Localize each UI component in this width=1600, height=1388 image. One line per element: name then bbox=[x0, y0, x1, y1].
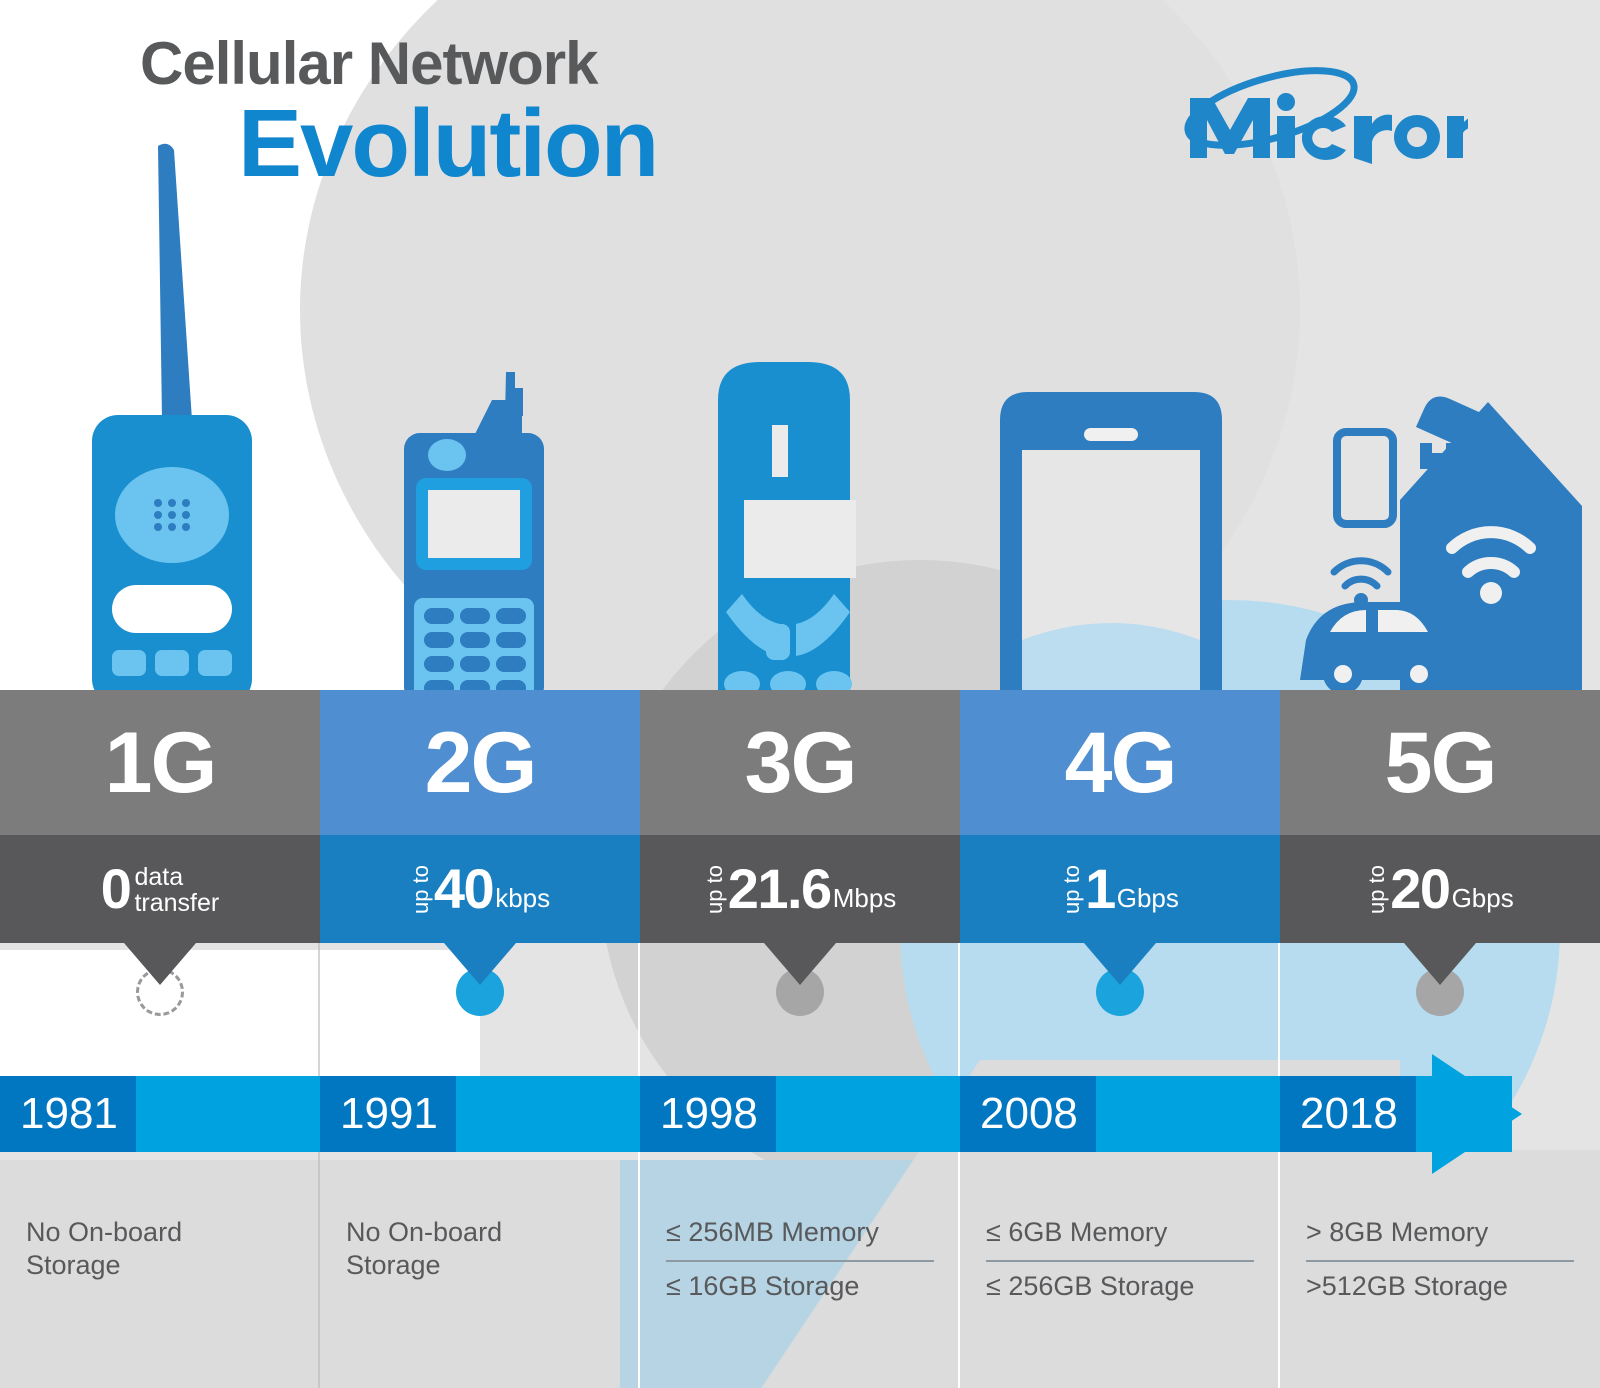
spec-storage-4g: ≤ 256GB Storage bbox=[986, 1262, 1254, 1314]
speed-value-4g: 1 bbox=[1085, 861, 1115, 917]
micron-orbit-logo-icon bbox=[1168, 62, 1468, 172]
timeline-year-1998[interactable]: 1998 bbox=[640, 1076, 776, 1152]
speed-bar-row: 0 plaindatatransfer up to 40 kbps up to … bbox=[0, 835, 1600, 943]
spec-memory-4g: ≤ 6GB Memory bbox=[986, 1194, 1254, 1262]
spec-cell-4g: ≤ 6GB Memory ≤ 256GB Storage bbox=[960, 1180, 1280, 1388]
gen-cell-1g[interactable]: 1G bbox=[0, 690, 320, 835]
timeline-year-1991[interactable]: 1991 bbox=[320, 1076, 456, 1152]
specs-row: No On-boardStorage No On-boardStorage ≤ … bbox=[0, 1180, 1600, 1388]
speed-value-5g: 20 bbox=[1390, 861, 1449, 917]
generation-bar-row: 1G 2G 3G 4G 5G bbox=[0, 690, 1600, 835]
speed-value-2g: 40 bbox=[434, 861, 493, 917]
timeline-year-label-1981: 1981 bbox=[0, 1092, 118, 1136]
pointer-arrow-4g bbox=[1084, 943, 1156, 985]
gen-label-3g: 3G bbox=[745, 720, 856, 806]
speed-sub-1g: plaindatatransfer bbox=[134, 864, 219, 916]
speed-cell-1g: 0 plaindatatransfer bbox=[0, 835, 320, 943]
spec-memory-5g: > 8GB Memory bbox=[1306, 1194, 1574, 1262]
gen-label-5g: 5G bbox=[1385, 720, 1496, 806]
timeline-year-label-1991: 1991 bbox=[320, 1092, 438, 1136]
title-primary: Cellular Network bbox=[140, 34, 657, 94]
iot-cluster-icon bbox=[1300, 397, 1582, 700]
timeline-year-2008[interactable]: 2008 bbox=[960, 1076, 1096, 1152]
title-secondary: Evolution bbox=[238, 96, 657, 192]
pointer-arrow-5g bbox=[1404, 943, 1476, 985]
background-white-lower bbox=[0, 950, 480, 1080]
spec-storage-2g: No On-boardStorage bbox=[346, 1194, 614, 1282]
timeline-arrowhead-icon bbox=[1432, 1054, 1522, 1174]
timeline-year-label-2018: 2018 bbox=[1280, 1092, 1398, 1136]
up-to-label-4g: up to bbox=[1061, 865, 1083, 914]
spec-cell-1g: No On-boardStorage bbox=[0, 1180, 320, 1388]
speed-unit-3g: Mbps bbox=[833, 885, 897, 911]
micron-logo bbox=[1168, 62, 1468, 177]
timeline-year-label-2008: 2008 bbox=[960, 1092, 1078, 1136]
up-to-label-5g: up to bbox=[1366, 865, 1388, 914]
up-to-label-3g: up to bbox=[704, 865, 726, 914]
brick-phone-icon bbox=[92, 144, 252, 700]
speed-cell-4g: up to 1 Gbps bbox=[960, 835, 1280, 943]
speed-value-1g: 0 bbox=[101, 861, 131, 917]
speed-cell-2g: up to 40 kbps bbox=[320, 835, 640, 943]
gen-label-4g: 4G bbox=[1065, 720, 1176, 806]
gen-cell-2g[interactable]: 2G bbox=[320, 690, 640, 835]
timeline-year-2018[interactable]: 2018 bbox=[1280, 1076, 1416, 1152]
speed-unit-4g: Gbps bbox=[1117, 885, 1179, 911]
spec-cell-3g: ≤ 256MB Memory ≤ 16GB Storage bbox=[640, 1180, 960, 1388]
gen-cell-4g[interactable]: 4G bbox=[960, 690, 1280, 835]
spec-memory-3g: ≤ 256MB Memory bbox=[666, 1194, 934, 1262]
up-to-label-2g: up to bbox=[410, 865, 432, 914]
pointer-arrow-3g bbox=[764, 943, 836, 985]
pointer-arrow-1g bbox=[124, 943, 196, 985]
speed-cell-3g: up to 21.6 Mbps bbox=[640, 835, 960, 943]
spec-storage-3g: ≤ 16GB Storage bbox=[666, 1262, 934, 1314]
timeline-year-1981[interactable]: 1981 bbox=[0, 1076, 136, 1152]
timeline-year-label-1998: 1998 bbox=[640, 1092, 758, 1136]
spec-storage-1g: No On-boardStorage bbox=[26, 1194, 294, 1282]
speed-unit-5g: Gbps bbox=[1452, 885, 1514, 911]
nokia-phone-icon bbox=[718, 362, 856, 700]
infographic-canvas: Cellular Network Evolution bbox=[0, 0, 1600, 1388]
timeline: 1981 1991 1998 2008 2018 bbox=[0, 1076, 1600, 1152]
speed-cell-5g: up to 20 Gbps bbox=[1280, 835, 1600, 943]
gen-cell-5g[interactable]: 5G bbox=[1280, 690, 1600, 835]
gen-label-1g: 1G bbox=[105, 720, 216, 806]
candybar-phone-icon bbox=[404, 372, 544, 700]
speed-value-3g: 21.6 bbox=[728, 861, 831, 917]
smartphone-icon bbox=[1000, 392, 1222, 700]
pointer-arrow-2g bbox=[444, 943, 516, 985]
speed-unit-2g: kbps bbox=[495, 885, 550, 911]
spec-cell-2g: No On-boardStorage bbox=[320, 1180, 640, 1388]
spec-cell-5g: > 8GB Memory >512GB Storage bbox=[1280, 1180, 1600, 1388]
spec-storage-5g: >512GB Storage bbox=[1306, 1262, 1574, 1314]
gen-cell-3g[interactable]: 3G bbox=[640, 690, 960, 835]
gen-label-2g: 2G bbox=[425, 720, 536, 806]
page-title: Cellular Network Evolution bbox=[140, 34, 657, 192]
